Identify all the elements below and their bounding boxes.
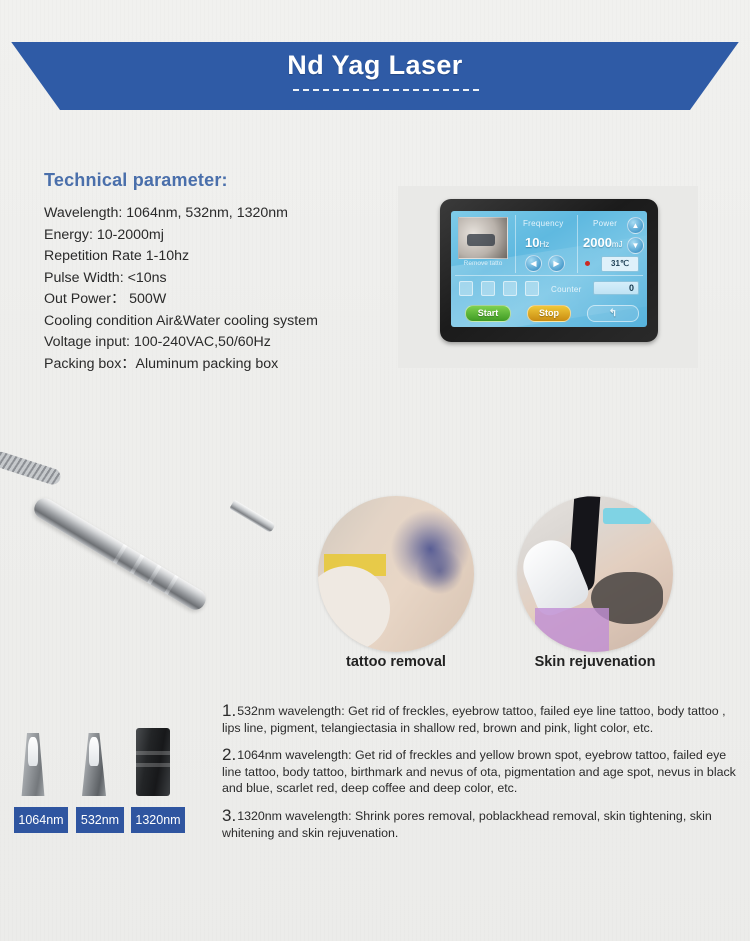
handpiece-cable [0, 450, 62, 487]
handpiece-icon[interactable] [503, 281, 517, 296]
tip-label-1064nm: 1064nm [14, 807, 68, 833]
tip-image-1320nm [136, 728, 170, 796]
lamp-icon[interactable] [481, 281, 495, 296]
tech-line-out-power: Out Power： 500W [44, 289, 384, 311]
description-text-3: 1320nm wavelength: Shrink pores removal,… [222, 809, 712, 840]
description-number-2: 2. [222, 745, 236, 764]
counter-label: Counter [551, 285, 582, 294]
power-down-icon[interactable]: ▼ [627, 237, 644, 254]
tip-label-1320nm: 1320nm [131, 807, 185, 833]
tech-line-cooling-condition: Cooling condition Air&Water cooling syst… [44, 311, 384, 333]
back-button-icon[interactable]: ↰ [587, 305, 639, 322]
start-button[interactable]: Start [465, 305, 511, 322]
counter-value: 0 [593, 281, 639, 295]
application-caption-skin-rejuvenation: Skin rejuvenation [505, 654, 685, 670]
tattoo-photo-accent-hand [318, 566, 390, 652]
laser-pulse-icon[interactable] [525, 281, 539, 296]
description-item-1064nm: 2.1064nm wavelength: Get rid of freckles… [222, 747, 738, 797]
technical-parameter-section: Technical parameter: Wavelength: 1064nm,… [44, 170, 384, 375]
power-value: 2000mJ [583, 235, 623, 250]
description-text-2: 1064nm wavelength: Get rid of freckles a… [222, 748, 736, 795]
frequency-label: Frequency [523, 219, 564, 228]
handpiece-ring-1 [113, 544, 127, 564]
frequency-value: 10Hz [525, 235, 549, 250]
handpiece-ring-4 [164, 575, 178, 595]
tip-image-532nm [79, 733, 109, 796]
control-panel-photo: Remove tatto Frequency 10Hz ◀ ▶ Power 20… [398, 186, 698, 368]
treatment-thumbnail-image [458, 217, 508, 259]
handpiece-photo [0, 465, 300, 640]
tech-line-pulse-width: Pulse Width: <10ns [44, 268, 384, 290]
skin-photo-accent-mask [603, 508, 651, 524]
handpiece-ring-3 [147, 565, 161, 585]
screen-divider-right [577, 215, 578, 273]
handpiece-body [31, 494, 210, 613]
description-item-532nm: 1.532nm wavelength: Get rid of freckles,… [222, 703, 738, 736]
frequency-unit: Hz [539, 240, 549, 249]
tip-label-532nm: 532nm [76, 807, 124, 833]
description-number-1: 1. [222, 701, 236, 720]
application-photo-skin-rejuvenation [517, 496, 673, 652]
tip-band-1320nm-upper [136, 751, 170, 755]
frequency-decrease-icon[interactable]: ◀ [525, 255, 542, 272]
skin-photo-accent-drape [535, 608, 609, 652]
screen-divider-left [515, 215, 516, 273]
tech-line-repetition-rate: Repetition Rate 1-10hz [44, 246, 384, 268]
treatment-mode-label: Remove tatto [456, 260, 510, 267]
handpiece-ring-2 [130, 554, 144, 574]
handpiece-tip [229, 500, 275, 533]
tech-line-packing-box: Packing box：Aluminum packing box [44, 354, 384, 376]
description-text-1: 532nm wavelength: Get rid of freckles, e… [222, 704, 726, 735]
tip-gloss-1064nm [28, 737, 38, 766]
stop-button[interactable]: Stop [527, 305, 571, 322]
screen-divider-horizontal [455, 275, 643, 276]
description-number-3: 3. [222, 806, 236, 825]
technical-parameter-heading: Technical parameter: [44, 170, 384, 191]
tech-line-energy: Energy: 10-2000mj [44, 225, 384, 247]
tip-band-1320nm-lower [136, 763, 170, 767]
tech-line-voltage-input: Voltage input: 100-240VAC,50/60Hz [44, 332, 384, 354]
description-item-1320nm: 3.1320nm wavelength: Shrink pores remova… [222, 808, 738, 841]
page-title: Nd Yag Laser [0, 50, 750, 81]
application-photo-tattoo-removal [318, 496, 474, 652]
power-up-icon[interactable]: ▲ [627, 217, 644, 234]
power-label: Power [593, 219, 617, 228]
water-cooling-icon[interactable] [459, 281, 473, 296]
thermometer-icon [585, 261, 590, 266]
power-unit: mJ [612, 240, 623, 249]
title-dashed-underline [293, 89, 479, 91]
tip-image-1064nm [18, 733, 48, 796]
wavelength-description-list: 1.532nm wavelength: Get rid of freckles,… [222, 703, 738, 852]
header-banner: Nd Yag Laser [0, 42, 750, 110]
tech-line-wavelength: Wavelength: 1064nm, 532nm, 1320nm [44, 203, 384, 225]
application-caption-tattoo-removal: tattoo removal [306, 654, 486, 670]
frequency-increase-icon[interactable]: ▶ [548, 255, 565, 272]
control-panel-screen: Remove tatto Frequency 10Hz ◀ ▶ Power 20… [451, 211, 647, 327]
tip-gloss-532nm [89, 737, 99, 766]
control-panel-bezel: Remove tatto Frequency 10Hz ◀ ▶ Power 20… [440, 199, 658, 342]
temperature-value: 31℃ [601, 256, 639, 272]
